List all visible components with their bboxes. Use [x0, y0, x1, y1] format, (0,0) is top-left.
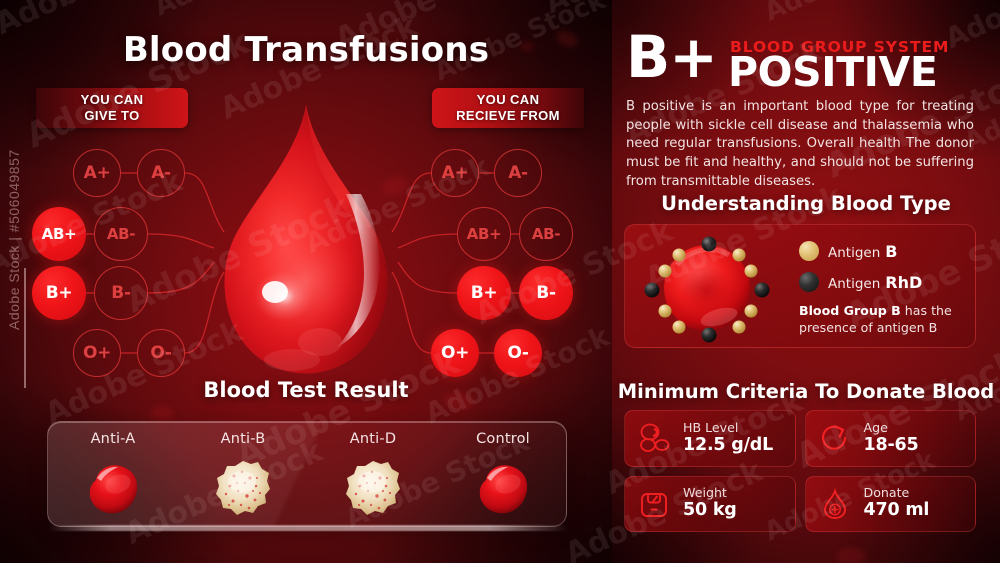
test-sample-red-drop: [472, 458, 534, 520]
test-well-label: Anti-B: [178, 431, 308, 447]
test-well-anti-a: Anti-A: [48, 422, 178, 528]
criteria-label: Weight: [683, 485, 737, 500]
test-sample-beige-clump: [212, 458, 274, 520]
give-to-node-oplus[interactable]: O+: [73, 329, 121, 377]
criteria-value: 18-65: [864, 435, 919, 457]
give-to-node-aplus[interactable]: A+: [73, 149, 121, 197]
receive-from-line1: YOU CAN: [456, 92, 560, 108]
test-well-label: Control: [438, 431, 568, 447]
legend-antigen-rhd: AntigenRhD: [828, 273, 922, 292]
give-to-badge: YOU CAN GIVE TO: [36, 88, 188, 128]
criteria-card-donate[interactable]: Donate470 ml: [805, 476, 977, 533]
receive-from-node-bplus[interactable]: B+: [457, 266, 511, 320]
note-bold: Blood Group B: [799, 303, 901, 318]
criteria-text: Donate470 ml: [864, 485, 930, 522]
antigen-legend: AntigenB AntigenRhD Blood Group B has th…: [799, 241, 969, 336]
receive-from-node-abminus[interactable]: AB-: [519, 207, 573, 261]
legend-antigen-b: AntigenB: [828, 242, 897, 261]
decor-blob: [836, 548, 866, 563]
criteria-label: Donate: [864, 485, 930, 500]
receive-from-line2: RECIEVE FROM: [456, 108, 560, 124]
antigen-b-dot-icon: [799, 241, 819, 261]
blood-group-note: Blood Group B has the presence of antige…: [799, 303, 969, 336]
criteria-label: Age: [864, 420, 919, 435]
criteria-value: 12.5 g/dL: [683, 435, 773, 457]
criteria-text: HB Level12.5 g/dL: [683, 420, 773, 457]
give-to-node-aminus[interactable]: A-: [137, 149, 185, 197]
receive-from-node-aminus[interactable]: A-: [494, 149, 542, 197]
criteria-card-hb-level[interactable]: HB Level12.5 g/dL: [624, 410, 796, 467]
blood-cells-icon: [635, 419, 673, 457]
infographic-canvas: Blood Transfusions YOU CAN GIVE TO YOU C…: [0, 0, 1000, 563]
page-title: Blood Transfusions: [0, 30, 612, 70]
blood-drop-plus-icon: [816, 485, 854, 523]
give-to-node-abplus[interactable]: AB+: [32, 207, 86, 261]
test-sample-red-drop: [82, 458, 144, 520]
receive-from-node-ominus[interactable]: O-: [494, 329, 542, 377]
antigen-rhd-dot-icon: [799, 272, 819, 292]
test-well-anti-b: Anti-B: [178, 422, 308, 528]
give-to-node-bminus[interactable]: B-: [94, 266, 148, 320]
blood-group-heading: B+: [626, 30, 717, 85]
blood-drop-illustration: [196, 98, 416, 388]
watermark-rule: [24, 268, 26, 388]
test-well-label: Anti-D: [308, 431, 438, 447]
red-blood-cell-illustration: [633, 231, 791, 343]
test-well-label: Anti-A: [48, 431, 178, 447]
understanding-blood-type-card: AntigenB AntigenRhD Blood Group B has th…: [624, 224, 976, 348]
test-well-anti-d: Anti-D: [308, 422, 438, 528]
receive-from-node-bminus[interactable]: B-: [519, 266, 573, 320]
receive-from-node-oplus[interactable]: O+: [431, 329, 479, 377]
give-to-node-ominus[interactable]: O-: [137, 329, 185, 377]
understanding-blood-type-title: Understanding Blood Type: [612, 192, 1000, 215]
weight-scale-icon: [635, 485, 673, 523]
legend-row-antigen-rhd: AntigenRhD: [799, 272, 969, 292]
give-to-line2: GIVE TO: [81, 108, 144, 124]
legend-row-antigen-b: AntigenB: [799, 241, 969, 261]
test-sample-beige-clump: [342, 458, 404, 520]
criteria-card-age[interactable]: Age18-65: [805, 410, 977, 467]
criteria-value: 470 ml: [864, 500, 930, 522]
refresh-icon: [816, 419, 854, 457]
criteria-card-weight[interactable]: Weight50 kg: [624, 476, 796, 533]
blood-type-description: B positive is an important blood type fo…: [626, 98, 974, 192]
minimum-criteria-title: Minimum Criteria To Donate Blood: [612, 380, 1000, 403]
give-to-node-abminus[interactable]: AB-: [94, 207, 148, 261]
receive-from-badge: YOU CAN RECIEVE FROM: [432, 88, 584, 128]
positive-label: POSITIVE: [728, 52, 937, 93]
give-to-node-bplus[interactable]: B+: [32, 266, 86, 320]
criteria-value: 50 kg: [683, 500, 737, 522]
test-well-control: Control: [438, 422, 568, 528]
criteria-label: HB Level: [683, 420, 773, 435]
blood-test-panel: Anti-AAnti-BAnti-DControl: [47, 421, 567, 527]
criteria-text: Age18-65: [864, 420, 919, 457]
criteria-grid: HB Level12.5 g/dLAge18-65Weight50 kgDona…: [624, 410, 976, 532]
receive-from-node-aplus[interactable]: A+: [431, 149, 479, 197]
criteria-text: Weight50 kg: [683, 485, 737, 522]
give-to-line1: YOU CAN: [81, 92, 144, 108]
blood-test-result-title: Blood Test Result: [0, 378, 612, 402]
receive-from-node-abplus[interactable]: AB+: [457, 207, 511, 261]
watermark-side-text: Adobe Stock | #506049857: [6, 149, 22, 330]
